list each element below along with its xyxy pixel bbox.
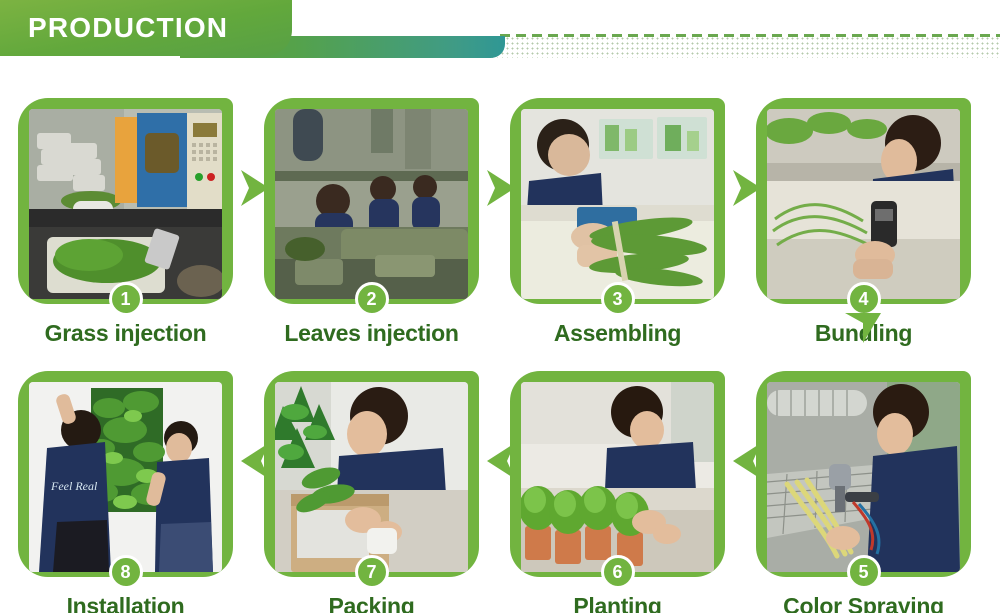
step-card-7[interactable]: 7 Packing (264, 355, 479, 595)
arrow-step1-to-step2 (239, 168, 271, 208)
step-card-4[interactable]: 4 Bundling (756, 82, 971, 322)
card-frame (264, 371, 479, 577)
step-number-badge: 2 (355, 282, 389, 316)
card-frame: Feel Real (18, 371, 233, 577)
step-label: Grass injection (0, 320, 251, 347)
arrow-step4-to-step5 (843, 311, 883, 345)
step-card-8[interactable]: Feel Real 8 Installation (18, 355, 233, 595)
step-photo-planting (521, 382, 714, 572)
step-photo-installation: Feel Real (29, 382, 222, 572)
card-frame (756, 98, 971, 304)
step-card-1[interactable]: 1 Grass injection (18, 82, 233, 322)
step-card-3[interactable]: 3 Assembling (510, 82, 725, 322)
card-frame (510, 98, 725, 304)
svg-text:Feel Real: Feel Real (50, 479, 98, 493)
step-number-badge: 5 (847, 555, 881, 589)
step-label: Packing (246, 593, 497, 613)
step-photo-bundling (767, 109, 960, 299)
step-label: Installation (0, 593, 251, 613)
arrow-step6-to-step7 (485, 441, 517, 481)
step-label: Color Spraying (738, 593, 989, 613)
step-card-5[interactable]: 5 Color Spraying (756, 355, 971, 595)
step-number-badge: 3 (601, 282, 635, 316)
steps-grid: 1 Grass injection (0, 0, 1000, 613)
step-photo-packing (275, 382, 468, 572)
arrow-step3-to-step4 (731, 168, 763, 208)
card-frame (756, 371, 971, 577)
step-number-badge: 6 (601, 555, 635, 589)
step-card-2[interactable]: 2 Leaves injection (264, 82, 479, 322)
step-card-6[interactable]: 6 Planting (510, 355, 725, 595)
step-number-badge: 8 (109, 555, 143, 589)
card-frame (510, 371, 725, 577)
step-photo-leaves-injection (275, 109, 468, 299)
step-label: Leaves injection (246, 320, 497, 347)
arrow-step5-to-step6 (731, 441, 763, 481)
card-frame (264, 98, 479, 304)
step-number-badge: 7 (355, 555, 389, 589)
card-frame (18, 98, 233, 304)
arrow-step7-to-step8 (239, 441, 271, 481)
production-infographic: PRODUCTION (0, 0, 1000, 613)
step-number-badge: 1 (109, 282, 143, 316)
step-label: Assembling (492, 320, 743, 347)
step-photo-assembling (521, 109, 714, 299)
step-label: Planting (492, 593, 743, 613)
arrow-step2-to-step3 (485, 168, 517, 208)
step-photo-color-spraying (767, 382, 960, 572)
step-photo-grass-injection (29, 109, 222, 299)
